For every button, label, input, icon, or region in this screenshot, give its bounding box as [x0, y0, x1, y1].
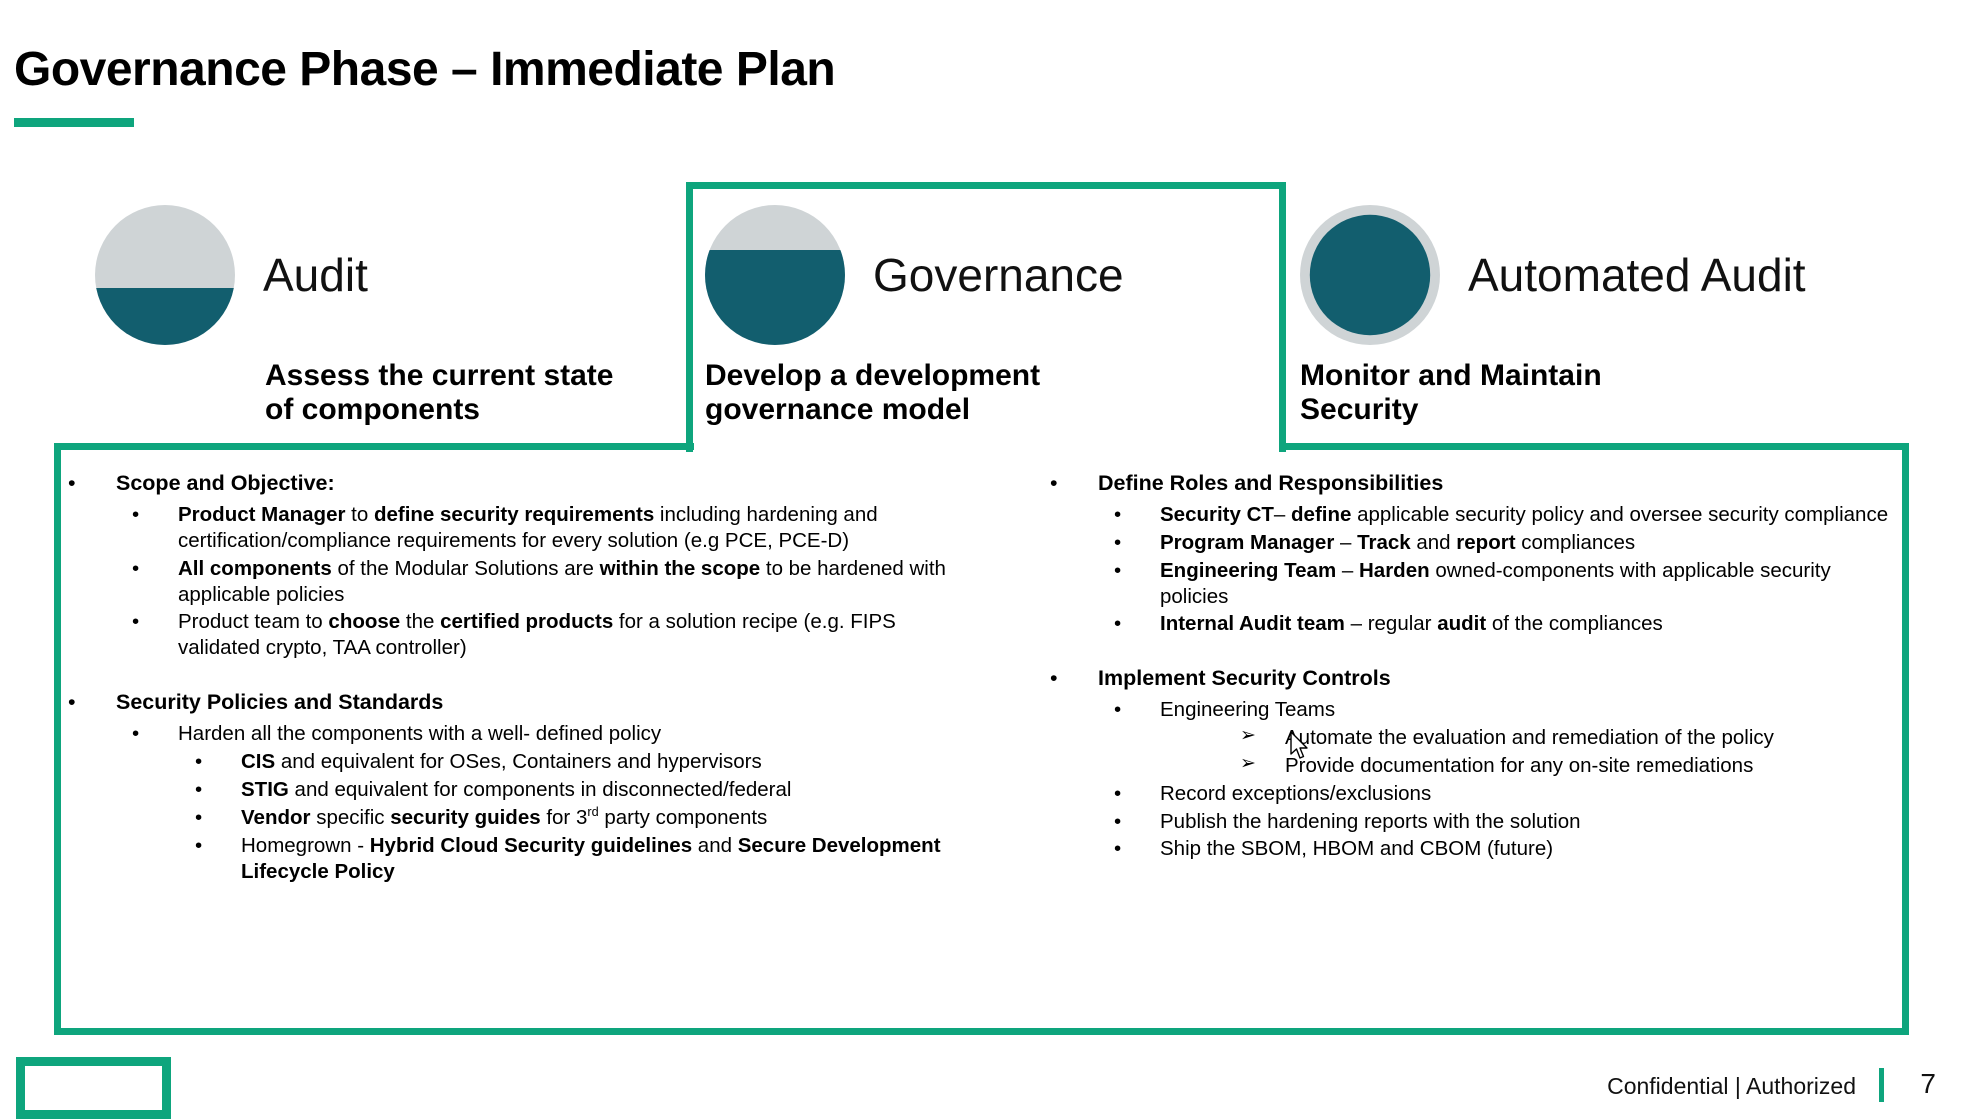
list-item: • Internal Audit team – regular audit of… — [1050, 611, 1890, 637]
list-item-text: STIG and equivalent for components in di… — [241, 778, 791, 801]
list-item-text: Engineering Team – Harden owned-componen… — [1160, 559, 1831, 608]
list-item-text: Harden all the components with a well- d… — [178, 722, 661, 745]
list-item: • Homegrown - Hybrid Cloud Security guid… — [68, 833, 948, 885]
list-item-text: Record exceptions/exclusions — [1160, 782, 1431, 805]
list-item: • Program Manager – Track and report com… — [1050, 530, 1890, 556]
footer-confidentiality-text: Confidential | Authorized — [1607, 1073, 1856, 1100]
list-item-text: Ship the SBOM, HBOM and CBOM (future) — [1160, 837, 1553, 860]
bullet-dot-icon: • — [1114, 530, 1121, 556]
arrow-bullet-icon: ➢ — [1240, 724, 1256, 748]
bullet-dot-icon: • — [132, 502, 139, 528]
pillar-automated-audit-subtitle-line2: Security — [1300, 393, 1920, 427]
pillar-governance: Governance Develop a development governa… — [705, 205, 1295, 427]
content-column-right: • Define Roles and Responsibilities • Se… — [1050, 470, 1890, 864]
list-item-text: Program Manager – Track and report compl… — [1160, 531, 1635, 554]
bullet-dot-icon: • — [195, 833, 202, 859]
title-accent-underline — [14, 118, 134, 127]
bullet-dot-icon: • — [195, 805, 202, 831]
list-item-text: Automate the evaluation and remediation … — [1285, 726, 1774, 749]
list-item: • Engineering Teams — [1050, 697, 1890, 723]
left-group1-heading: Scope and Objective: — [116, 471, 335, 495]
list-item-text: CIS and equivalent for OSes, Containers … — [241, 750, 762, 773]
list-item: • Harden all the components with a well-… — [68, 721, 948, 747]
content-column-left: • Scope and Objective: • Product Manager… — [68, 470, 948, 887]
arrow-bullet-icon: ➢ — [1240, 752, 1256, 776]
bullet-dot-icon: • — [1114, 611, 1121, 637]
list-item: • Engineering Team – Harden owned-compon… — [1050, 558, 1890, 610]
list-item-text: Product team to choose the certified pro… — [178, 610, 896, 659]
pillar-governance-subtitle: Develop a development governance model — [705, 359, 1295, 427]
list-item: • Define Roles and Responsibilities — [1050, 470, 1890, 497]
list-item-text: Vendor specific security guides for 3rd … — [241, 806, 767, 829]
right-group1-heading: Define Roles and Responsibilities — [1098, 471, 1443, 495]
list-item: • Security Policies and Standards — [68, 689, 948, 716]
pillar-automated-audit: Automated Audit Monitor and Maintain Sec… — [1300, 205, 1920, 427]
list-item: • Record exceptions/exclusions — [1050, 781, 1890, 807]
list-item: • Product team to choose the certified p… — [68, 609, 948, 661]
list-item: • All components of the Modular Solution… — [68, 556, 948, 608]
list-item: ➢ Provide documentation for any on-site … — [1050, 753, 1890, 779]
bullet-dot-icon: • — [195, 777, 202, 803]
list-item: • Vendor specific security guides for 3r… — [68, 805, 948, 832]
spacer — [1050, 639, 1890, 665]
bullet-dot-icon: • — [1114, 558, 1121, 584]
list-item: • CIS and equivalent for OSes, Container… — [68, 749, 948, 775]
pillar-governance-subtitle-line2: governance model — [705, 393, 1295, 427]
two-thirds-filled-circle-icon — [705, 205, 845, 345]
bullet-dot-icon: • — [132, 721, 139, 747]
bullet-dot-icon: • — [195, 749, 202, 775]
full-filled-circle-icon — [1300, 205, 1440, 345]
list-item: • Product Manager to define security req… — [68, 502, 948, 554]
bullet-dot-icon: • — [1050, 470, 1058, 497]
pillar-automated-audit-subtitle: Monitor and Maintain Security — [1300, 359, 1920, 427]
footer-divider — [1879, 1068, 1884, 1102]
list-item: • Scope and Objective: — [68, 470, 948, 497]
bullet-dot-icon: • — [1114, 809, 1121, 835]
pillar-audit: Audit Assess the current state of compon… — [95, 205, 705, 427]
list-item: ➢ Automate the evaluation and remediatio… — [1050, 725, 1890, 751]
list-item-text: Internal Audit team – regular audit of t… — [1160, 612, 1663, 635]
bullet-dot-icon: • — [68, 689, 76, 716]
right-group2-heading: Implement Security Controls — [1098, 666, 1391, 690]
list-item: • Security CT– define applicable securit… — [1050, 502, 1890, 528]
list-item: • Publish the hardening reports with the… — [1050, 809, 1890, 835]
left-group2-heading: Security Policies and Standards — [116, 690, 443, 714]
bullet-dot-icon: • — [1050, 665, 1058, 692]
list-item: • Implement Security Controls — [1050, 665, 1890, 692]
bullet-dot-icon: • — [1114, 836, 1121, 862]
bullet-dot-icon: • — [132, 556, 139, 582]
list-item-text: Security CT– define applicable security … — [1160, 503, 1888, 526]
list-item-text: Homegrown - Hybrid Cloud Security guidel… — [241, 834, 941, 883]
bullet-dot-icon: • — [68, 470, 76, 497]
pillar-audit-name: Audit — [263, 248, 368, 302]
pillar-governance-name: Governance — [873, 248, 1124, 302]
list-item-text: Engineering Teams — [1160, 698, 1335, 721]
pillar-automated-audit-subtitle-line1: Monitor and Maintain — [1300, 359, 1920, 393]
list-item-text: Product Manager to define security requi… — [178, 503, 878, 552]
page-title: Governance Phase – Immediate Plan — [14, 42, 835, 97]
pillar-audit-subtitle-line1: Assess the current state — [265, 359, 705, 393]
bullet-dot-icon: • — [132, 609, 139, 635]
pillar-audit-subtitle: Assess the current state of components — [265, 359, 705, 427]
frame-join-patch — [694, 440, 1279, 450]
list-item: • Ship the SBOM, HBOM and CBOM (future) — [1050, 836, 1890, 862]
pillar-automated-audit-name: Automated Audit — [1468, 248, 1806, 302]
bullet-dot-icon: • — [1114, 781, 1121, 807]
bullet-dot-icon: • — [1114, 697, 1121, 723]
bullet-dot-icon: • — [1114, 502, 1121, 528]
list-item-text: All components of the Modular Solutions … — [178, 557, 946, 606]
pillar-governance-subtitle-line1: Develop a development — [705, 359, 1295, 393]
pillar-audit-subtitle-line2: of components — [265, 393, 705, 427]
footer-logo-placeholder — [16, 1057, 171, 1119]
half-filled-circle-icon — [95, 205, 235, 345]
slide-number: 7 — [1920, 1068, 1936, 1100]
list-item-text: Publish the hardening reports with the s… — [1160, 810, 1581, 833]
spacer — [68, 663, 948, 689]
list-item: • STIG and equivalent for components in … — [68, 777, 948, 803]
list-item-text: Provide documentation for any on-site re… — [1285, 754, 1753, 777]
